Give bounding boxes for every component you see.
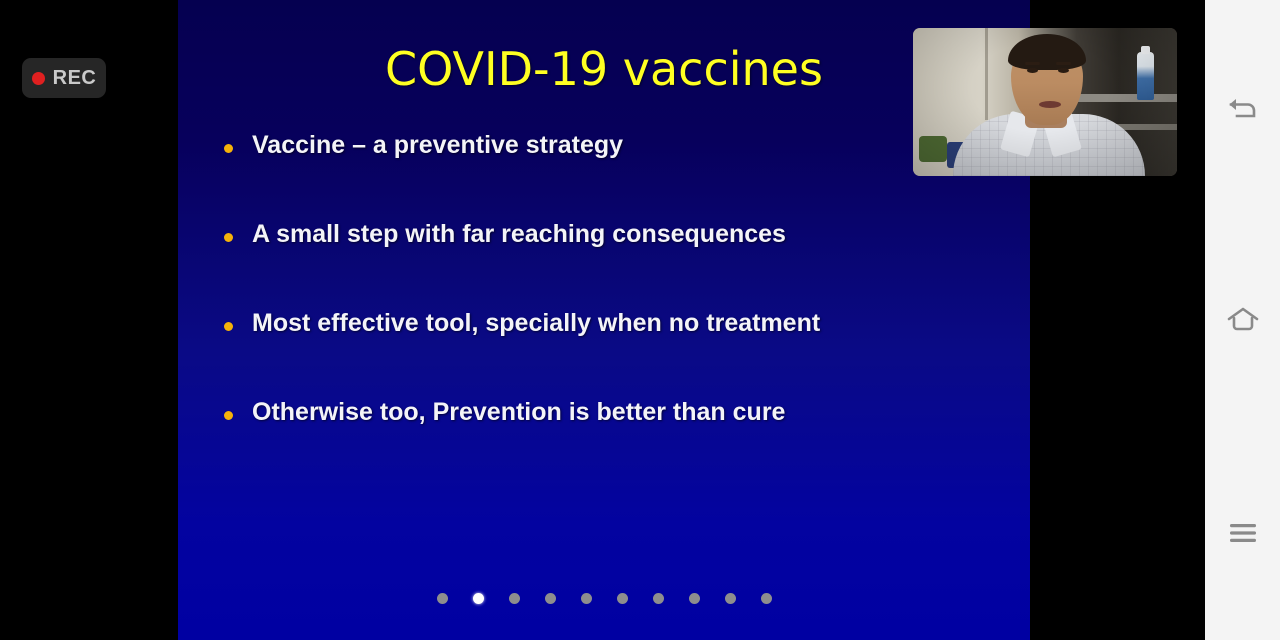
back-arrow-icon	[1226, 92, 1260, 122]
menu-button[interactable]	[1215, 505, 1271, 561]
list-item: Otherwise too, Prevention is better than…	[224, 399, 1010, 488]
page-dot-2-active[interactable]	[473, 593, 484, 604]
page-indicator[interactable]	[178, 593, 1030, 604]
bullet-text: Otherwise too, Prevention is better than…	[252, 399, 785, 425]
bullet-text: Most effective tool, specially when no t…	[252, 310, 820, 336]
page-dot-10[interactable]	[761, 593, 772, 604]
presentation-slide[interactable]: COVID-19 vaccines Vaccine – a preventive…	[178, 0, 1030, 640]
page-dot-9[interactable]	[725, 593, 736, 604]
page-dot-4[interactable]	[545, 593, 556, 604]
bullet-point-icon	[224, 233, 233, 242]
list-item: A small step with far reaching consequen…	[224, 221, 1010, 310]
page-dot-1[interactable]	[437, 593, 448, 604]
home-icon	[1225, 305, 1261, 335]
bullet-point-icon	[224, 144, 233, 153]
bullet-point-icon	[224, 322, 233, 331]
slide-bullet-list: Vaccine – a preventive strategy A small …	[224, 132, 1010, 488]
hamburger-menu-icon	[1226, 520, 1260, 546]
list-item: Vaccine – a preventive strategy	[224, 132, 1010, 221]
home-button[interactable]	[1215, 292, 1271, 348]
presenter-video-thumbnail[interactable]	[913, 28, 1177, 176]
back-button[interactable]	[1215, 79, 1271, 135]
bullet-text: Vaccine – a preventive strategy	[252, 132, 623, 158]
page-dot-5[interactable]	[581, 593, 592, 604]
page-dot-3[interactable]	[509, 593, 520, 604]
record-dot-icon	[32, 72, 45, 85]
page-dot-6[interactable]	[617, 593, 628, 604]
bullet-point-icon	[224, 411, 233, 420]
list-item: Most effective tool, specially when no t…	[224, 310, 1010, 399]
bullet-text: A small step with far reaching consequen…	[252, 221, 786, 247]
recording-label: REC	[53, 68, 97, 88]
device-screen: REC COVID-19 vaccines Vaccine – a preven…	[0, 0, 1280, 640]
recording-badge[interactable]: REC	[22, 58, 106, 98]
system-navigation-bar	[1205, 0, 1280, 640]
page-dot-8[interactable]	[689, 593, 700, 604]
video-vignette	[913, 28, 1177, 176]
slide-title: COVID-19 vaccines	[178, 42, 1030, 96]
page-dot-7[interactable]	[653, 593, 664, 604]
